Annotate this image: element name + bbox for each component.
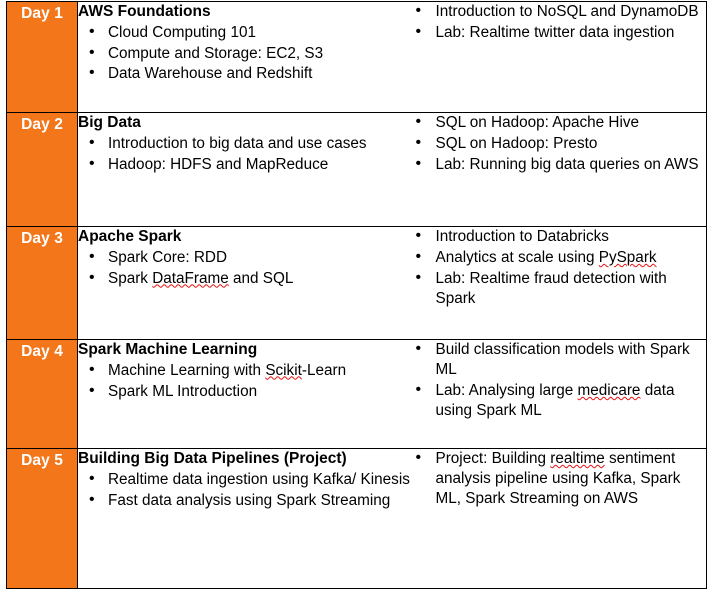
details-cell-2: SQL on Hadoop: Apache Hive SQL on Hadoop… bbox=[412, 113, 707, 227]
spellcheck-word: medicare bbox=[578, 382, 641, 399]
spellcheck-word: Scikit bbox=[265, 362, 302, 379]
topics-list: Introduction to big data and use cases H… bbox=[78, 134, 412, 175]
list-item: Lab: Analysing large medicare data using… bbox=[412, 381, 707, 421]
list-item: SQL on Hadoop: Presto bbox=[412, 134, 707, 154]
day-label: Day 5 bbox=[7, 449, 77, 470]
list-item: Machine Learning with Scikit-Learn bbox=[78, 361, 412, 381]
details-list: Build classification models with Spark M… bbox=[412, 340, 707, 421]
spellcheck-word: realtime bbox=[550, 450, 604, 467]
list-item: Build classification models with Spark M… bbox=[412, 340, 707, 380]
section-title: Big Data bbox=[78, 113, 412, 133]
list-item: Realtime data ingestion using Kafka/ Kin… bbox=[78, 470, 412, 490]
list-item-text: Analytics at scale using PySpark bbox=[436, 249, 657, 266]
table-row: Day 4 Spark Machine Learning Machine Lea… bbox=[7, 340, 707, 449]
list-item-text: Project: Building realtime sentiment ana… bbox=[436, 450, 681, 507]
details-list: Introduction to NoSQL and DynamoDB Lab: … bbox=[412, 2, 707, 43]
list-item: Analytics at scale using PySpark bbox=[412, 248, 707, 268]
details-list: Introduction to Databricks Analytics at … bbox=[412, 227, 707, 309]
list-item: Compute and Storage: EC2, S3 bbox=[78, 44, 412, 64]
list-item: Cloud Computing 101 bbox=[78, 23, 412, 43]
day-label: Day 2 bbox=[7, 113, 77, 134]
spellcheck-word: PySpark bbox=[599, 249, 657, 266]
section-title: AWS Foundations bbox=[78, 2, 412, 22]
list-item: Project: Building realtime sentiment ana… bbox=[412, 449, 707, 509]
list-item: Lab: Realtime twitter data ingestion bbox=[412, 23, 707, 43]
details-cell-5: Project: Building realtime sentiment ana… bbox=[412, 449, 707, 589]
list-item: Spark DataFrame and SQL bbox=[78, 269, 412, 289]
day-label-cell-1: Day 1 bbox=[7, 2, 78, 113]
topics-cell-4: Spark Machine Learning Machine Learning … bbox=[78, 340, 412, 449]
topics-cell-2: Big Data Introduction to big data and us… bbox=[78, 113, 412, 227]
topics-cell-5: Building Big Data Pipelines (Project) Re… bbox=[78, 449, 412, 589]
day-label-cell-4: Day 4 bbox=[7, 340, 78, 449]
day-label: Day 1 bbox=[7, 2, 77, 23]
list-item: Data Warehouse and Redshift bbox=[78, 64, 412, 84]
list-item-text: Spark DataFrame and SQL bbox=[108, 270, 293, 287]
list-item: Lab: Running big data queries on AWS bbox=[412, 155, 707, 175]
list-item: Spark ML Introduction bbox=[78, 382, 412, 402]
day-label: Day 3 bbox=[7, 227, 77, 248]
topics-cell-1: AWS Foundations Cloud Computing 101 Comp… bbox=[78, 2, 412, 113]
course-schedule-table: Day 1 AWS Foundations Cloud Computing 10… bbox=[6, 1, 707, 589]
list-item: Introduction to NoSQL and DynamoDB bbox=[412, 2, 707, 22]
list-item: Hadoop: HDFS and MapReduce bbox=[78, 155, 412, 175]
day-label-cell-3: Day 3 bbox=[7, 227, 78, 340]
section-title: Spark Machine Learning bbox=[78, 340, 412, 360]
spellcheck-word: DataFrame bbox=[152, 270, 229, 287]
topics-cell-3: Apache Spark Spark Core: RDD Spark DataF… bbox=[78, 227, 412, 340]
table-row: Day 1 AWS Foundations Cloud Computing 10… bbox=[7, 2, 707, 113]
details-cell-1: Introduction to NoSQL and DynamoDB Lab: … bbox=[412, 2, 707, 113]
topics-list: Spark Core: RDD Spark DataFrame and SQL bbox=[78, 248, 412, 289]
table-row: Day 3 Apache Spark Spark Core: RDD Spark… bbox=[7, 227, 707, 340]
list-item: Introduction to big data and use cases bbox=[78, 134, 412, 154]
day-label-cell-2: Day 2 bbox=[7, 113, 78, 227]
list-item-text: Lab: Analysing large medicare data using… bbox=[436, 382, 675, 419]
list-item: Fast data analysis using Spark Streaming bbox=[78, 491, 412, 511]
day-label: Day 4 bbox=[7, 340, 77, 361]
section-title: Apache Spark bbox=[78, 227, 412, 247]
topics-list: Machine Learning with Scikit-Learn Spark… bbox=[78, 361, 412, 402]
section-title: Building Big Data Pipelines (Project) bbox=[78, 449, 412, 469]
day-label-cell-5: Day 5 bbox=[7, 449, 78, 589]
details-list: SQL on Hadoop: Apache Hive SQL on Hadoop… bbox=[412, 113, 707, 175]
list-item: Lab: Realtime fraud detection with Spark bbox=[412, 269, 707, 309]
details-cell-3: Introduction to Databricks Analytics at … bbox=[412, 227, 707, 340]
details-list: Project: Building realtime sentiment ana… bbox=[412, 449, 707, 509]
table-row: Day 2 Big Data Introduction to big data … bbox=[7, 113, 707, 227]
details-cell-4: Build classification models with Spark M… bbox=[412, 340, 707, 449]
list-item: Introduction to Databricks bbox=[412, 227, 707, 247]
table-row: Day 5 Building Big Data Pipelines (Proje… bbox=[7, 449, 707, 589]
list-item: Spark Core: RDD bbox=[78, 248, 412, 268]
list-item: SQL on Hadoop: Apache Hive bbox=[412, 113, 707, 133]
topics-list: Cloud Computing 101 Compute and Storage:… bbox=[78, 23, 412, 85]
topics-list: Realtime data ingestion using Kafka/ Kin… bbox=[78, 470, 412, 511]
list-item-text: Machine Learning with Scikit-Learn bbox=[108, 362, 346, 379]
